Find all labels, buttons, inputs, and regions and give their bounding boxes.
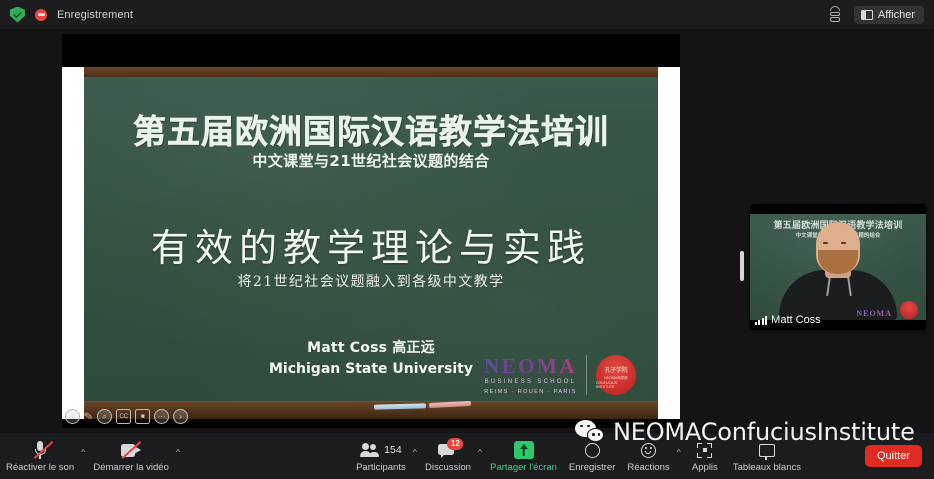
participants-options-chevron-up-icon[interactable]: ^: [413, 448, 417, 456]
neoma-wordmark: NEOMA: [484, 355, 577, 377]
back-arrow-icon[interactable]: ‹: [65, 409, 80, 424]
reactions-button-label: Réactions: [627, 462, 669, 473]
view-button[interactable]: Afficher: [854, 6, 924, 24]
confucius-line-1: NEOMA商学院: [604, 375, 627, 380]
self-view-name-tag: Matt Coss: [755, 314, 821, 326]
meeting-stage: 第五届欧洲国际汉语教学法培训 中文课堂与21世纪社会议题的结合 有效的教学理论与…: [0, 29, 934, 433]
share-screen-icon: [514, 439, 534, 461]
thumbnail-neoma-logo: NEOMA: [856, 309, 892, 318]
meeting-top-bar: Enregistrement Afficher: [0, 0, 934, 29]
video-button[interactable]: Démarrer la vidéo: [87, 439, 175, 473]
more-options-icon[interactable]: ···: [154, 409, 169, 424]
neoma-cities: REIMS · ROUEN · PARIS: [484, 389, 577, 395]
slide-title: 第五届欧洲国际汉语教学法培训: [84, 105, 658, 153]
participants-icon: 154: [360, 439, 402, 461]
slide-logo-group: NEOMA BUSINESS SCHOOL REIMS · ROUEN · PA…: [484, 355, 636, 395]
chat-bubble-icon: 12: [438, 439, 457, 461]
self-view-drag-handle[interactable]: [740, 251, 744, 281]
top-bar-left-group: Enregistrement: [10, 7, 133, 23]
wechat-icon: [575, 420, 605, 445]
chat-button-label: Discussion: [425, 462, 471, 473]
panel-layout-icon: [861, 10, 873, 20]
camera-off-icon: [121, 439, 141, 461]
confucius-line-2: CONFUCIUS INSTITUTE: [596, 381, 636, 389]
slide-headline: 有效的教学理论与实践: [84, 217, 658, 272]
audio-options-chevron-up-icon[interactable]: ^: [81, 448, 85, 456]
annotate-pen-icon[interactable]: ✎: [83, 409, 95, 424]
confucius-institute-logo: 孔子学院 NEOMA商学院 CONFUCIUS INSTITUTE: [596, 355, 636, 395]
video-options-chevron-up-icon[interactable]: ^: [176, 448, 180, 456]
chat-options-chevron-up-icon[interactable]: ^: [478, 448, 482, 456]
forward-arrow-icon[interactable]: ›: [173, 409, 188, 424]
wechat-watermark: NEOMAConfuciusInstitute: [575, 418, 915, 446]
video-thumbnail-icon[interactable]: ■: [135, 409, 150, 424]
zoom-magnifier-icon[interactable]: ⌕: [97, 409, 112, 424]
audio-button[interactable]: Réactiver le son: [0, 439, 80, 473]
top-bar-right-group: Afficher: [828, 6, 924, 24]
reactions-options-chevron-up-icon[interactable]: ^: [677, 448, 681, 456]
thumbnail-letterbox-top: [750, 204, 926, 214]
whiteboard-button-label: Tableaux blancs: [733, 462, 801, 473]
participant-webcam-figure: [778, 234, 898, 320]
view-button-label: Afficher: [878, 9, 915, 21]
record-dot-icon: [35, 9, 47, 21]
microphone-muted-icon: [33, 439, 47, 461]
participants-count: 154: [384, 444, 402, 456]
shared-screen-area[interactable]: 第五届欧洲国际汉语教学法培训 中文课堂与21世纪社会议题的结合 有效的教学理论与…: [62, 34, 680, 428]
slide-subtitle: 中文课堂与21世纪社会议题的结合: [84, 150, 658, 171]
thumbnail-confucius-logo: [900, 301, 918, 319]
presentation-slide: 第五届欧洲国际汉语教学法培训 中文课堂与21世纪社会议题的结合 有效的教学理论与…: [62, 67, 680, 419]
chat-button[interactable]: 12 Discussion: [419, 439, 477, 473]
shield-icon[interactable]: [10, 7, 25, 23]
wechat-account-name: NEOMAConfuciusInstitute: [613, 418, 915, 446]
chalkboard-top-frame: [84, 67, 658, 77]
video-button-label: Démarrer la vidéo: [93, 462, 169, 473]
signal-bars-icon: [755, 316, 767, 325]
zoom-meeting-window: Enregistrement Afficher 第五届欧洲国际汉语教学法培训 中…: [0, 0, 934, 479]
share-screen-button[interactable]: Partager l'écran: [484, 439, 563, 473]
self-view-thumbnail[interactable]: 第五届欧洲国际汉语教学法培训 中文课堂与21世纪社会议题的结合 NEOMA Ma…: [750, 204, 926, 330]
confucius-glyph: 孔子学院: [605, 365, 628, 374]
record-button-label: Enregistrer: [569, 462, 615, 473]
audio-button-label: Réactiver le son: [6, 462, 74, 473]
annotation-toolbar[interactable]: ‹ ✎ ⌕ CC ■ ··· ›: [65, 409, 188, 424]
toolbar-left-group: Réactiver le son ^ Démarrer la vidéo ^: [0, 439, 182, 473]
chat-unread-badge: 12: [447, 438, 463, 450]
closed-captions-icon[interactable]: CC: [116, 409, 131, 424]
participants-button-label: Participants: [356, 462, 406, 473]
stacked-view-icon[interactable]: [828, 6, 842, 23]
slide-headline-subtitle: 将21世纪社会议题融入到各级中文教学: [84, 271, 658, 291]
recording-status-label: Enregistrement: [57, 9, 133, 21]
neoma-tagline: BUSINESS SCHOOL: [484, 379, 577, 385]
participants-button[interactable]: 154 Participants: [350, 439, 412, 473]
leave-meeting-button[interactable]: Quitter: [865, 445, 922, 467]
share-screen-button-label: Partager l'écran: [490, 462, 557, 473]
neoma-logo: NEOMA BUSINESS SCHOOL REIMS · ROUEN · PA…: [484, 355, 587, 394]
self-view-participant-name: Matt Coss: [771, 314, 821, 326]
apps-button-label: Applis: [692, 462, 718, 473]
chalkboard-background: 第五届欧洲国际汉语教学法培训 中文课堂与21世纪社会议题的结合 有效的教学理论与…: [84, 67, 658, 419]
